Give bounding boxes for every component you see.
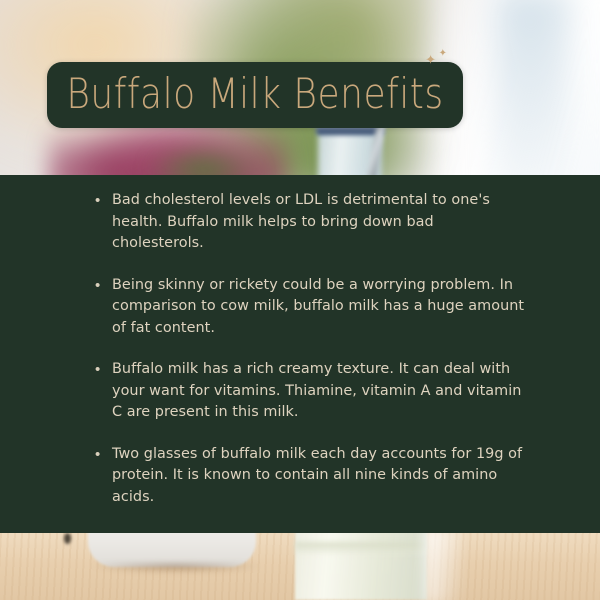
table-window-light	[424, 533, 462, 600]
benefits-list: • Bad cholesterol levels or LDL is detri…	[90, 190, 530, 528]
bullet-marker-icon: •	[90, 359, 112, 381]
list-item: • Two glasses of buffalo milk each day a…	[90, 444, 530, 509]
list-item: • Bad cholesterol levels or LDL is detri…	[90, 190, 530, 255]
white-jug	[88, 533, 256, 567]
title-badge: Buffalo Milk Benefits ✦ ✦	[47, 62, 463, 128]
list-item-text: Bad cholesterol levels or LDL is detrime…	[112, 190, 530, 255]
poster-canvas: Buffalo Milk Benefits ✦ ✦ • Bad choleste…	[0, 0, 600, 600]
jug-handle-detail	[64, 533, 71, 544]
milk-bottle-ridge	[295, 542, 427, 555]
bullet-marker-icon: •	[90, 275, 112, 297]
list-item-text: Being skinny or rickety could be a worry…	[112, 275, 530, 340]
jug-shadow	[92, 563, 260, 573]
list-item: • Being skinny or rickety could be a wor…	[90, 275, 530, 340]
bullet-marker-icon: •	[90, 444, 112, 466]
page-title: Buffalo Milk Benefits	[66, 74, 443, 116]
list-item: • Buffalo milk has a rich creamy texture…	[90, 359, 530, 424]
bullet-marker-icon: •	[90, 190, 112, 212]
list-item-text: Buffalo milk has a rich creamy texture. …	[112, 359, 530, 424]
table-scene	[0, 533, 600, 600]
list-item-text: Two glasses of buffalo milk each day acc…	[112, 444, 530, 509]
